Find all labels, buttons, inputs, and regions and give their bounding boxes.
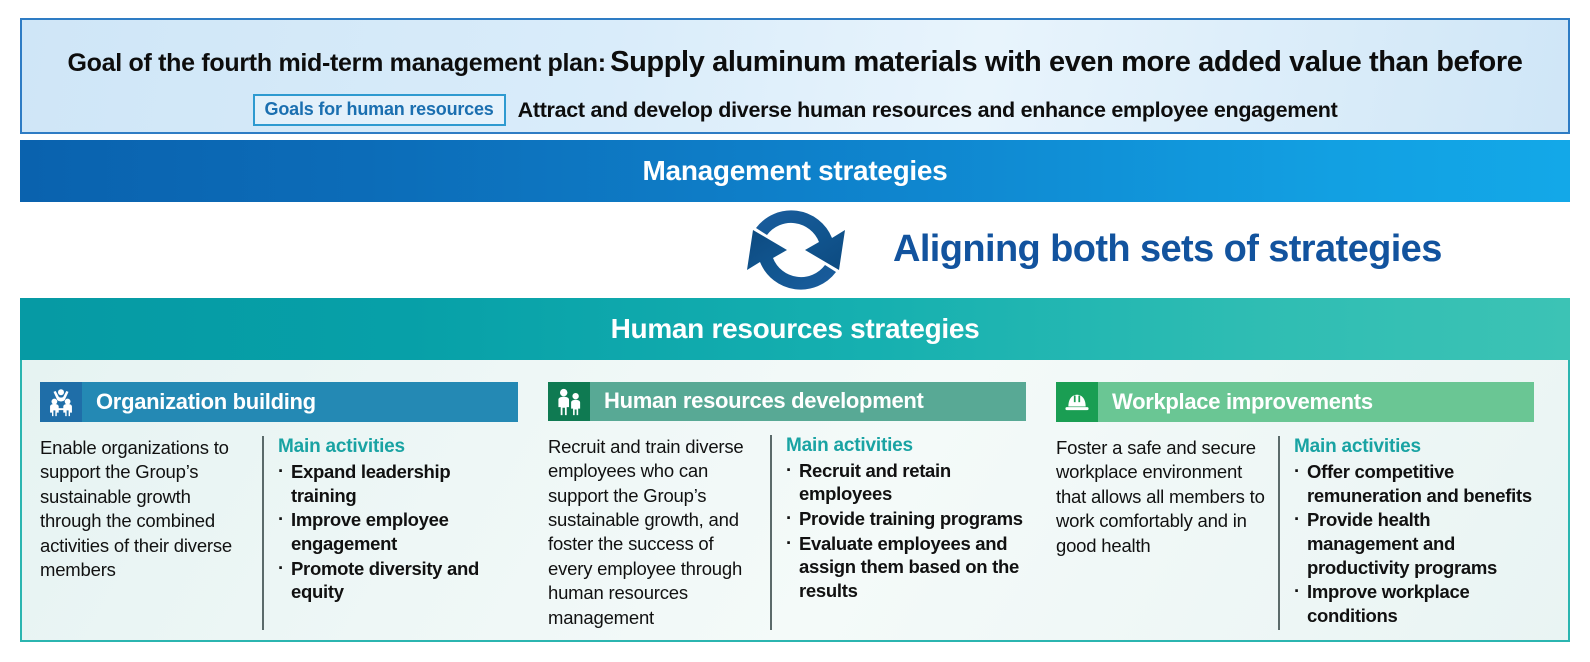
column-activities: Main activities ·Expand leadership train… — [278, 436, 518, 630]
strategy-columns-panel: Organization building Enable organizatio… — [20, 360, 1570, 642]
goal-panel: Goal of the fourth mid-term management p… — [20, 18, 1570, 134]
column-title: Workplace improvements — [1098, 382, 1534, 422]
activity-item: ·Recruit and retain employees — [786, 459, 1026, 506]
bullet-icon: · — [786, 506, 792, 530]
column-activities: Main activities ·Offer competitive remun… — [1294, 436, 1534, 630]
bullet-icon: · — [786, 458, 792, 482]
hard-hat-icon — [1056, 382, 1098, 422]
goal-headline: Goal of the fourth mid-term management p… — [22, 46, 1568, 79]
activity-item: ·Improve employee engagement — [278, 508, 518, 555]
strategy-column-human-resources-development: Human resources development Recruit and … — [548, 382, 1026, 630]
goal-main-text: Supply aluminum materials with even more… — [610, 46, 1522, 78]
activity-item: ·Offer competitive remuneration and bene… — [1294, 460, 1534, 507]
activity-text: Offer competitive remuneration and benef… — [1307, 461, 1532, 506]
column-header: Human resources development — [548, 382, 1026, 421]
hr-goal-line: Goals for human resources Attract and de… — [22, 94, 1568, 126]
activity-item: ·Expand leadership training — [278, 460, 518, 507]
bullet-icon: · — [278, 459, 284, 483]
activity-text: Improve workplace conditions — [1307, 581, 1470, 626]
activity-item: ·Provide health management and productiv… — [1294, 508, 1534, 579]
column-description: Recruit and train diverse employees who … — [548, 435, 770, 630]
column-header: Organization building — [40, 382, 518, 422]
activity-text: Improve employee engagement — [291, 509, 449, 554]
activity-item: ·Improve workplace conditions — [1294, 580, 1534, 627]
column-activities: Main activities ·Recruit and retain empl… — [786, 435, 1026, 630]
activity-text: Evaluate employees and assign them based… — [799, 533, 1019, 601]
hr-strategies-bar: Human resources strategies — [20, 298, 1570, 360]
column-divider — [770, 435, 772, 630]
management-strategies-label: Management strategies — [643, 155, 948, 187]
activities-title: Main activities — [786, 435, 1026, 457]
column-body: Recruit and train diverse employees who … — [548, 435, 1026, 630]
activity-text: Provide training programs — [799, 508, 1023, 529]
management-strategies-bar: Management strategies — [20, 140, 1570, 202]
two-people-mentoring-icon — [548, 382, 590, 421]
activity-text: Recruit and retain employees — [799, 460, 951, 505]
cycle-arrows-icon — [735, 194, 857, 306]
column-body: Enable organizations to support the Grou… — [40, 436, 518, 630]
hr-strategy-infographic: Goal of the fourth mid-term management p… — [0, 0, 1590, 662]
column-title: Organization building — [82, 382, 518, 422]
activity-item: ·Provide training programs — [786, 507, 1026, 531]
column-description: Foster a safe and secure workplace envir… — [1056, 436, 1278, 630]
activity-text: Promote diversity and equity — [291, 558, 479, 603]
group-of-people-icon — [40, 382, 82, 422]
strategy-column-organization-building: Organization building Enable organizatio… — [40, 382, 518, 630]
activity-text: Provide health management and productivi… — [1307, 509, 1497, 577]
bullet-icon: · — [1294, 579, 1300, 603]
bullet-icon: · — [278, 556, 284, 580]
column-body: Foster a safe and secure workplace envir… — [1056, 436, 1534, 630]
activity-item: ·Promote diversity and equity — [278, 557, 518, 604]
bullet-icon: · — [1294, 507, 1300, 531]
column-title: Human resources development — [590, 382, 1026, 421]
aligning-strategies-text: Aligning both sets of strategies — [893, 228, 1442, 271]
hr-goals-badge: Goals for human resources — [253, 94, 506, 126]
strategy-column-workplace-improvements: Workplace improvements Foster a safe and… — [1056, 382, 1534, 630]
goal-prefix: Goal of the fourth mid-term management p… — [68, 49, 606, 77]
hr-strategies-label: Human resources strategies — [611, 313, 980, 345]
bullet-icon: · — [1294, 459, 1300, 483]
column-divider — [262, 436, 264, 630]
activities-title: Main activities — [278, 436, 518, 458]
hr-goal-text: Attract and develop diverse human resour… — [518, 98, 1338, 123]
bullet-icon: · — [786, 531, 792, 555]
activity-item: ·Evaluate employees and assign them base… — [786, 532, 1026, 603]
activities-title: Main activities — [1294, 436, 1534, 458]
column-header: Workplace improvements — [1056, 382, 1534, 422]
bullet-icon: · — [278, 507, 284, 531]
activity-text: Expand leadership training — [291, 461, 450, 506]
aligning-band: Aligning both sets of strategies — [20, 202, 1570, 298]
column-divider — [1278, 436, 1280, 630]
column-description: Enable organizations to support the Grou… — [40, 436, 262, 630]
